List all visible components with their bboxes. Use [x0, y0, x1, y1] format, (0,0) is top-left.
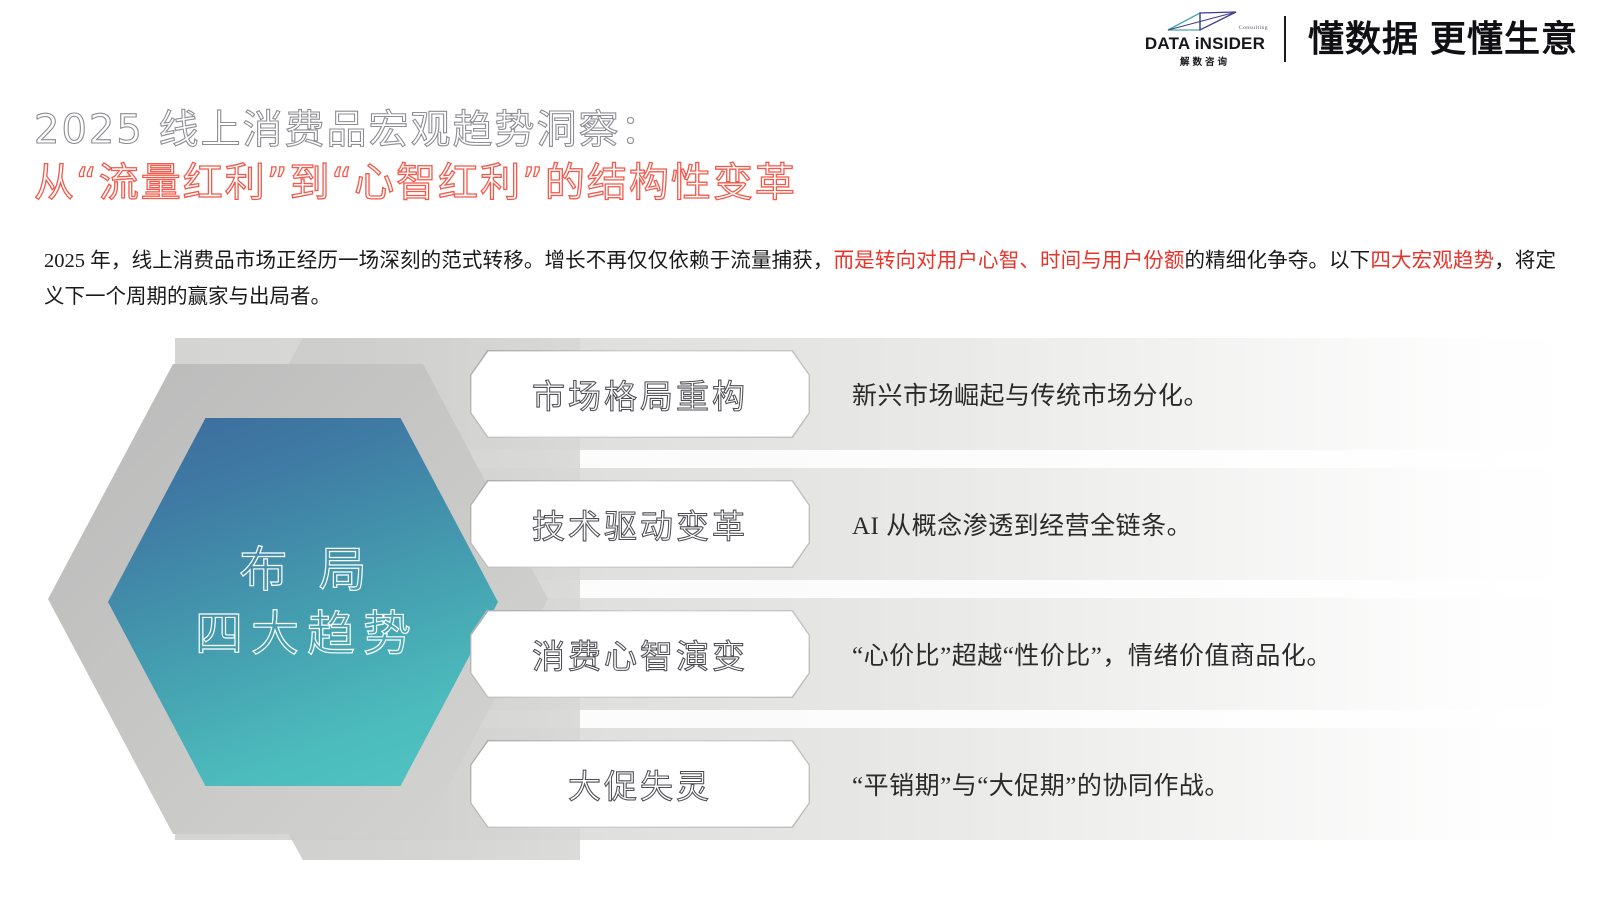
lead-paragraph: 2025 年，线上消费品市场正经历一场深刻的范式转移。增长不再仅仅依赖于流量捕获… — [44, 243, 1556, 316]
trend-label-3: 消费心智演变 — [532, 630, 748, 678]
trend-row-4[interactable]: 大促失灵 “平销期”与“大促期”的协同作战。 — [470, 728, 1590, 840]
page-title-line1: 2025 线上消费品宏观趋势洞察： — [34, 105, 797, 156]
brand-header: Consulting DATA iNSIDER 解数咨询 懂数据 更懂生意 — [1146, 8, 1578, 70]
page-title: 2025 线上消费品宏观趋势洞察： 从“流量红利”到“心智红利”的结构性变革 — [34, 105, 797, 209]
brand-name: DATA iNSIDER — [1145, 35, 1265, 53]
trend-pill-3[interactable]: 消费心智演变 — [470, 610, 810, 698]
trend-label-1: 市场格局重构 — [532, 370, 748, 418]
trend-desc-1: 新兴市场崛起与传统市场分化。 — [852, 376, 1209, 412]
lead-seg-3: 的精细化争夺。以下 — [1185, 250, 1371, 272]
page-title-line2: 从“流量红利”到“心智红利”的结构性变革 — [34, 158, 797, 209]
trend-desc-3: “心价比”超越“性价比”，情绪价值商品化。 — [852, 636, 1332, 672]
trend-row-3[interactable]: 消费心智演变 “心价比”超越“性价比”，情绪价值商品化。 — [470, 598, 1590, 710]
trend-pill-1[interactable]: 市场格局重构 — [470, 350, 810, 438]
brand-logo: Consulting DATA iNSIDER 解数咨询 — [1146, 8, 1264, 70]
brand-slogan: 懂数据 更懂生意 — [1308, 21, 1578, 57]
brand-divider — [1284, 16, 1286, 62]
trend-pill-4[interactable]: 大促失灵 — [470, 740, 810, 828]
lead-highlight-1: 而是转向对用户心智、时间与用户份额 — [834, 250, 1185, 272]
slide-root: Consulting DATA iNSIDER 解数咨询 懂数据 更懂生意 20… — [0, 0, 1600, 900]
bowtie-mark-icon — [1166, 10, 1244, 34]
trend-row-1[interactable]: 市场格局重构 新兴市场崛起与传统市场分化。 — [470, 338, 1590, 450]
trends-diagram: 布 局 四大趋势 市场格局重构 新兴市场崛起与传统市场分化。 技术驱动变革 AI… — [0, 330, 1600, 870]
brand-consulting-label: Consulting — [1239, 25, 1268, 31]
trend-rows: 市场格局重构 新兴市场崛起与传统市场分化。 技术驱动变革 AI 从概念渗透到经营… — [0, 330, 1600, 870]
lead-seg-1: 2025 年，线上消费品市场正经历一场深刻的范式转移。增长不再仅仅依赖于流量捕获… — [44, 250, 834, 272]
trend-row-2[interactable]: 技术驱动变革 AI 从概念渗透到经营全链条。 — [470, 468, 1590, 580]
lead-highlight-2: 四大宏观趋势 — [1370, 250, 1494, 272]
trend-label-4: 大促失灵 — [568, 760, 712, 808]
trend-desc-4: “平销期”与“大促期”的协同作战。 — [852, 766, 1230, 802]
trend-label-2: 技术驱动变革 — [532, 500, 748, 548]
trend-pill-2[interactable]: 技术驱动变革 — [470, 480, 810, 568]
trend-desc-2: AI 从概念渗透到经营全链条。 — [852, 506, 1192, 542]
brand-name-cn: 解数咨询 — [1180, 54, 1230, 68]
